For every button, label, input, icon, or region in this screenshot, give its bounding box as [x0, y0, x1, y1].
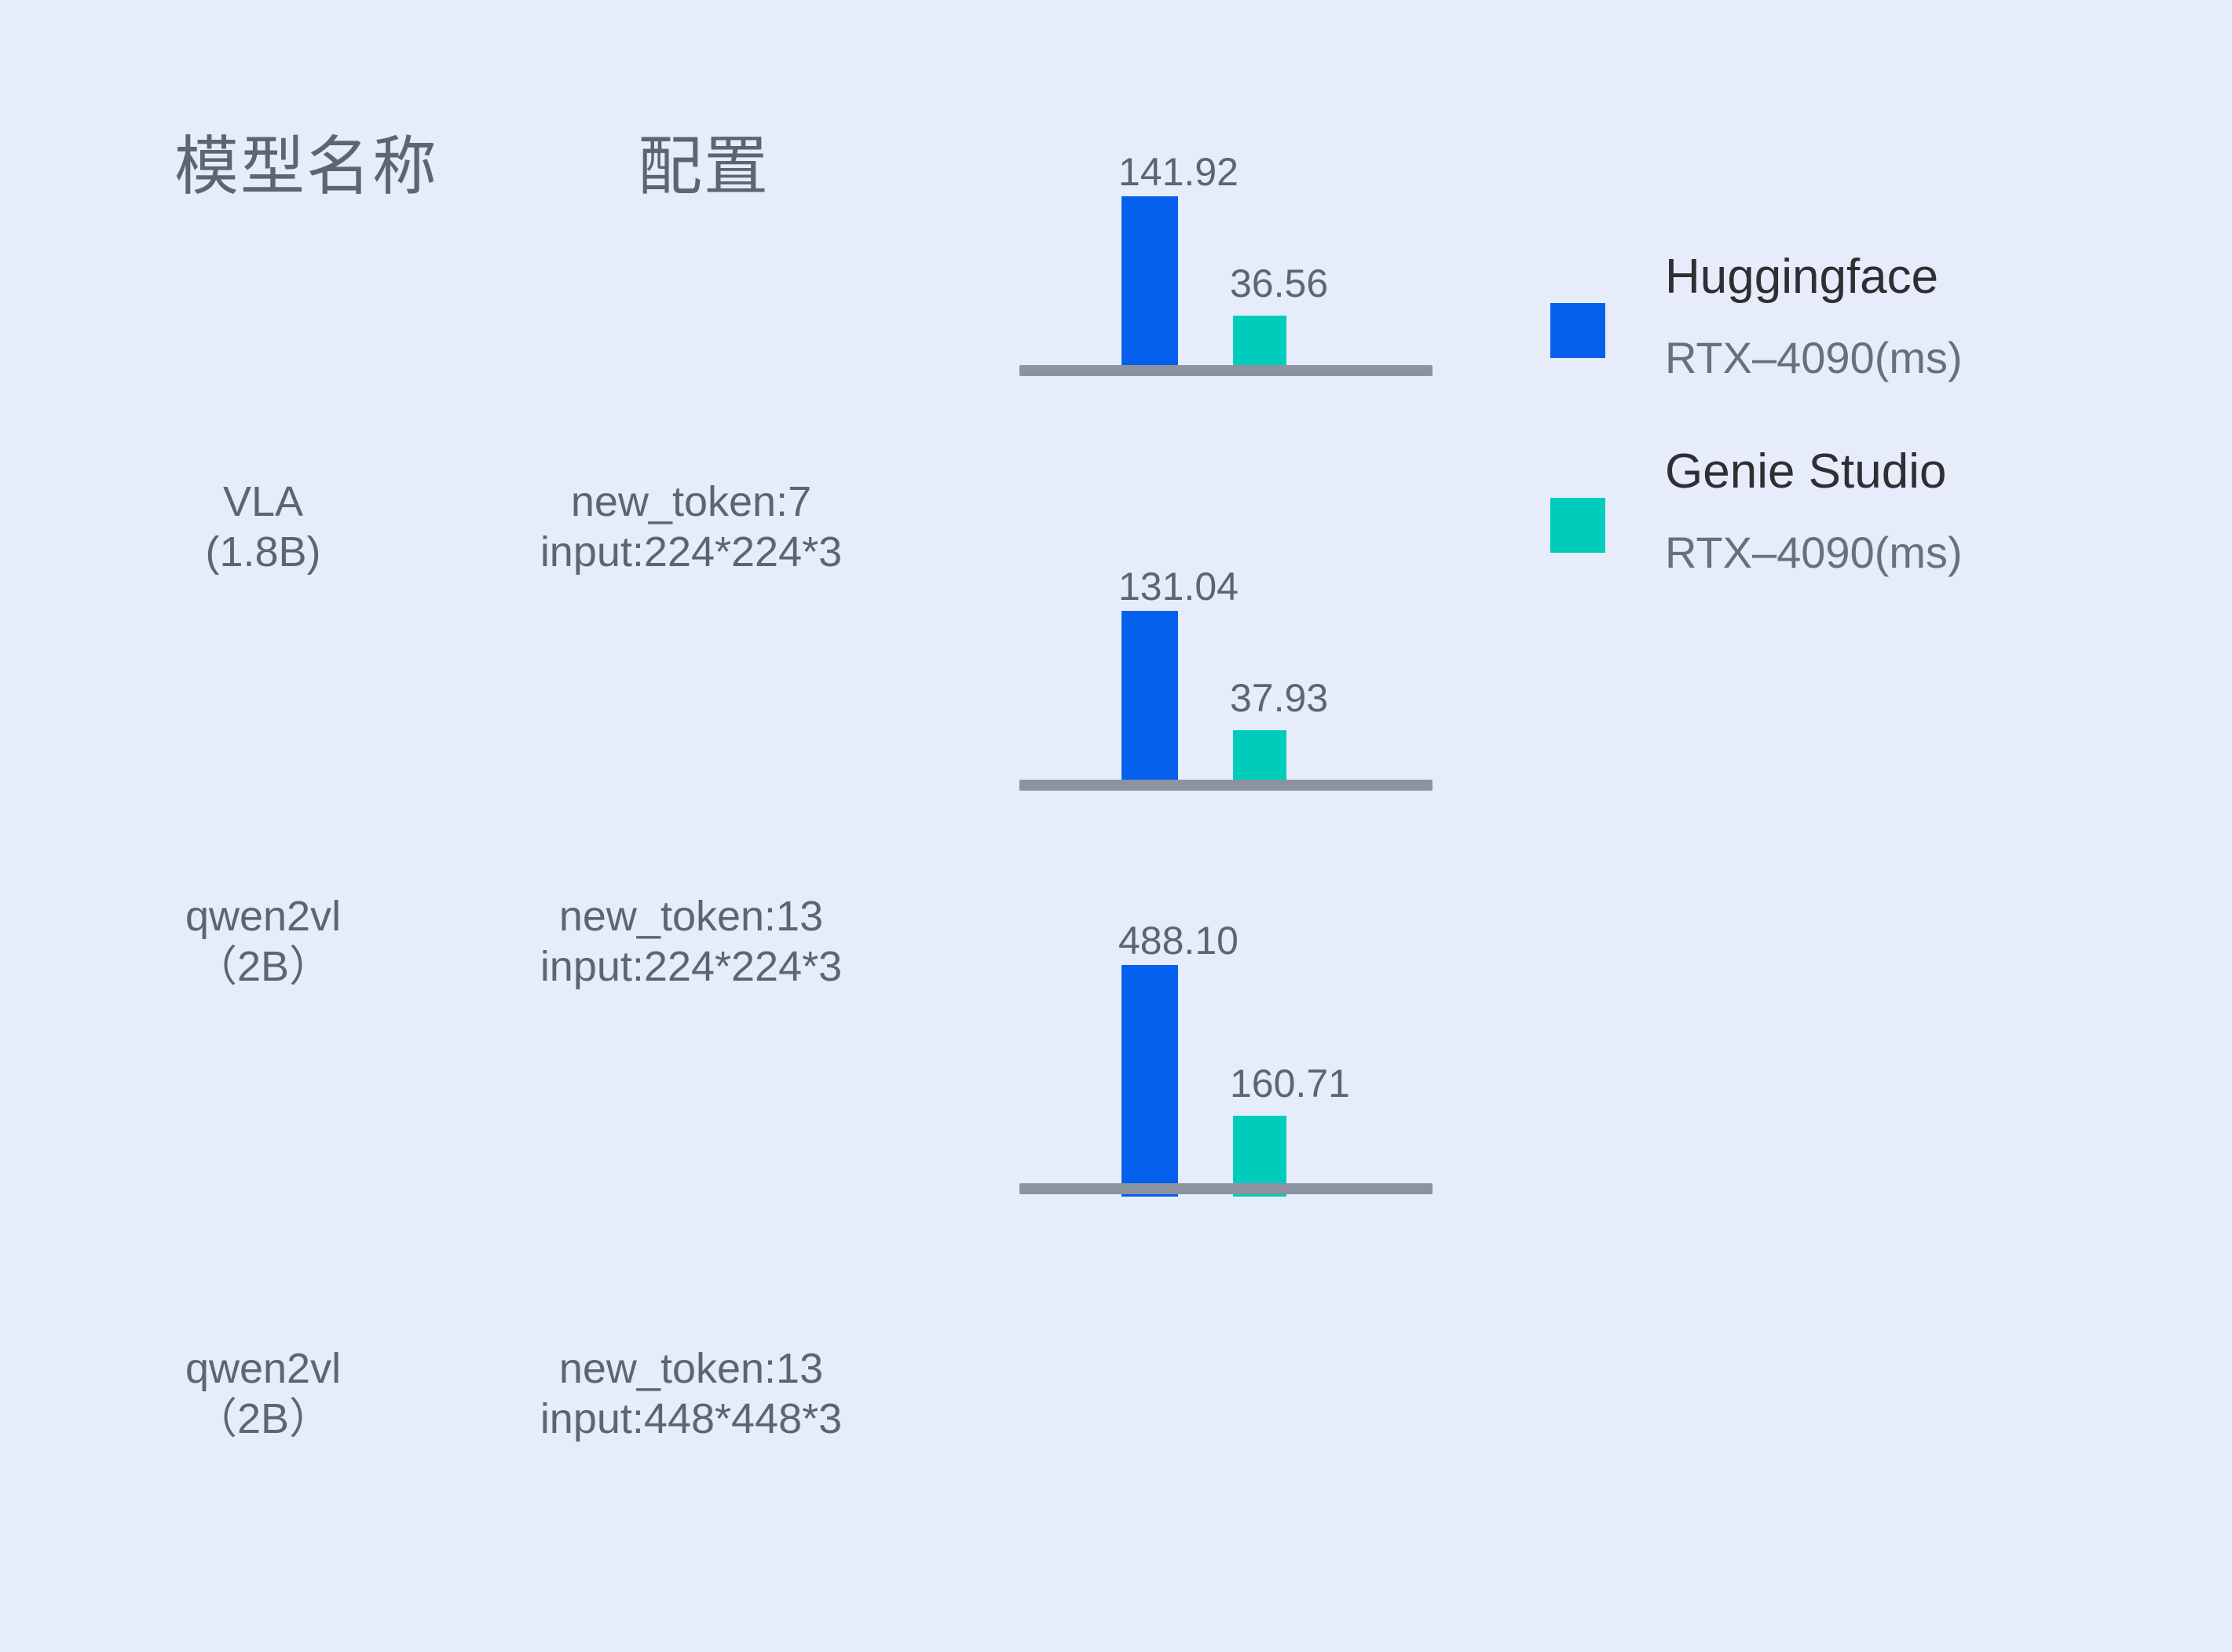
config-line-1: new_token:7: [440, 477, 942, 528]
config-line-2: input:448*448*3: [440, 1394, 942, 1445]
model-name-line-2: (1.8B): [134, 528, 393, 578]
value-label-huggingface: 141.92: [1118, 152, 1239, 192]
bar-huggingface: [1121, 196, 1178, 371]
cell-config: new_token:7 input:224*224*3: [440, 477, 942, 577]
cell-model-name: VLA (1.8B): [134, 477, 393, 577]
bar-well: [1019, 970, 1433, 1197]
bar-genie-studio: [1233, 730, 1286, 785]
model-name-line-1: qwen2vl: [134, 892, 393, 942]
row-baseline: [1019, 365, 1433, 376]
config-line-1: new_token:13: [440, 892, 942, 942]
bar-huggingface: [1121, 965, 1178, 1197]
bar-well: [1019, 587, 1433, 785]
config-line-1: new_token:13: [440, 1344, 942, 1394]
row-baseline: [1019, 1183, 1433, 1194]
row-plot: 488.10 160.71: [1019, 970, 1433, 1472]
legend-subtitle: RTX–4090(ms): [1665, 336, 1963, 380]
legend-item-genie-studio: Genie Studio RTX–4090(ms): [1546, 430, 2174, 587]
cell-config: new_token:13 input:448*448*3: [440, 1344, 942, 1444]
row-baseline: [1019, 780, 1433, 791]
legend-title: Genie Studio: [1665, 448, 1946, 496]
value-label-huggingface: 131.04: [1118, 567, 1239, 606]
model-name-line-2: （2B）: [134, 942, 393, 992]
legend-swatch-icon: [1550, 303, 1605, 358]
cell-model-name: qwen2vl （2B）: [134, 892, 393, 992]
table-row: qwen2vl （2B） new_token:13 input:448*448*…: [0, 1256, 2232, 1539]
cell-config: new_token:13 input:224*224*3: [440, 892, 942, 992]
legend-swatch-icon: [1550, 498, 1605, 553]
value-label-genie-studio: 37.93: [1230, 678, 1328, 718]
model-name-line-1: VLA: [134, 477, 393, 528]
legend-item-huggingface: Huggingface RTX–4090(ms): [1546, 236, 2174, 393]
model-name-line-2: （2B）: [134, 1394, 393, 1445]
chart-canvas: 模型名称 配置 VLA (1.8B) new_token:7 input:224…: [0, 0, 2232, 1652]
model-name-line-1: qwen2vl: [134, 1344, 393, 1394]
legend-title: Huggingface: [1665, 253, 1938, 302]
row-plot: 141.92 36.56: [1019, 173, 1433, 605]
legend-subtitle: RTX–4090(ms): [1665, 531, 1963, 575]
config-line-2: input:224*224*3: [440, 942, 942, 992]
bar-genie-studio: [1233, 316, 1286, 371]
bar-well: [1019, 173, 1433, 371]
value-label-genie-studio: 36.56: [1230, 264, 1328, 303]
value-label-huggingface: 488.10: [1118, 921, 1239, 960]
config-line-2: input:224*224*3: [440, 528, 942, 578]
value-label-genie-studio: 160.71: [1230, 1064, 1350, 1103]
column-header-config: 配置: [638, 135, 770, 199]
column-header-model-name: 模型名称: [174, 135, 438, 199]
cell-model-name: qwen2vl （2B）: [134, 1344, 393, 1444]
bar-huggingface: [1121, 611, 1178, 785]
